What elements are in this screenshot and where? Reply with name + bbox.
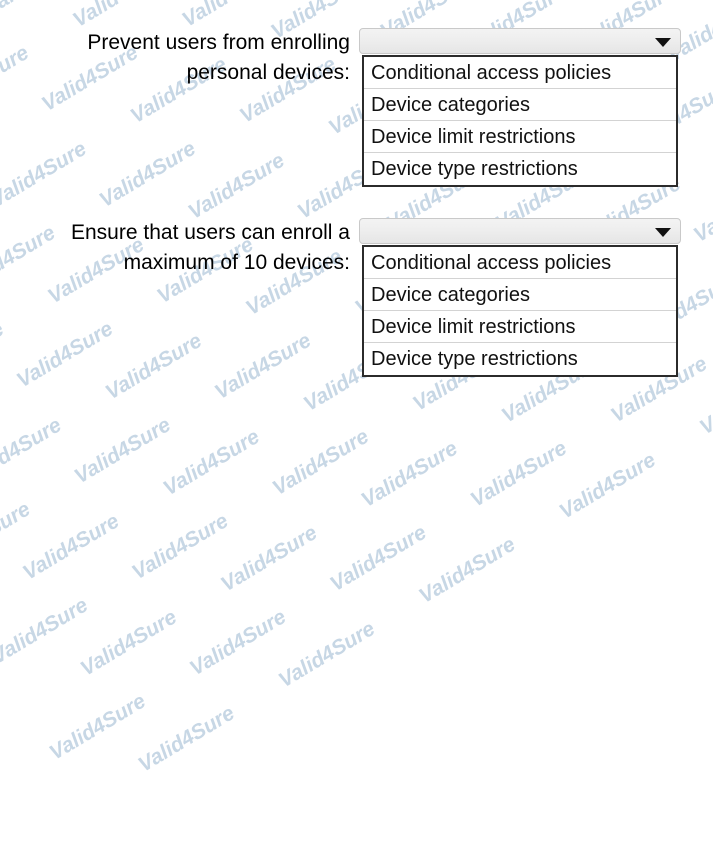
- dropdown-1-option-2[interactable]: Device limit restrictions: [364, 121, 676, 153]
- dropdown-2-option-0[interactable]: Conditional access policies: [364, 247, 676, 279]
- question-form: Prevent users from enrolling personal de…: [0, 0, 713, 432]
- dropdown-2-option-2[interactable]: Device limit restrictions: [364, 311, 676, 343]
- question-label-2-line1: Ensure that users can enroll a: [71, 221, 350, 244]
- question-label-2: Ensure that users can enroll a maximum o…: [0, 218, 352, 278]
- dropdown-1-button[interactable]: [359, 28, 681, 54]
- dropdown-1-option-1[interactable]: Device categories: [364, 89, 676, 121]
- question-row-1: Prevent users from enrolling personal de…: [0, 28, 681, 187]
- question-row-2: Ensure that users can enroll a maximum o…: [0, 218, 681, 377]
- dropdown-2-button[interactable]: [359, 218, 681, 244]
- question-label-2-line2: maximum of 10 devices:: [0, 248, 350, 278]
- question-label-1-line1: Prevent users from enrolling: [87, 31, 350, 54]
- dropdown-1: Conditional access policies Device categ…: [359, 28, 681, 187]
- dropdown-1-option-0[interactable]: Conditional access policies: [364, 57, 676, 89]
- question-label-1: Prevent users from enrolling personal de…: [0, 28, 352, 88]
- question-label-1-line2: personal devices:: [0, 58, 350, 88]
- dropdown-2: Conditional access policies Device categ…: [359, 218, 681, 377]
- dropdown-1-option-3[interactable]: Device type restrictions: [364, 153, 676, 185]
- chevron-down-icon[interactable]: [655, 228, 671, 237]
- dropdown-1-option-list[interactable]: Conditional access policies Device categ…: [362, 55, 678, 187]
- dropdown-2-option-1[interactable]: Device categories: [364, 279, 676, 311]
- dropdown-2-option-3[interactable]: Device type restrictions: [364, 343, 676, 375]
- dropdown-2-option-list[interactable]: Conditional access policies Device categ…: [362, 245, 678, 377]
- chevron-down-icon[interactable]: [655, 38, 671, 47]
